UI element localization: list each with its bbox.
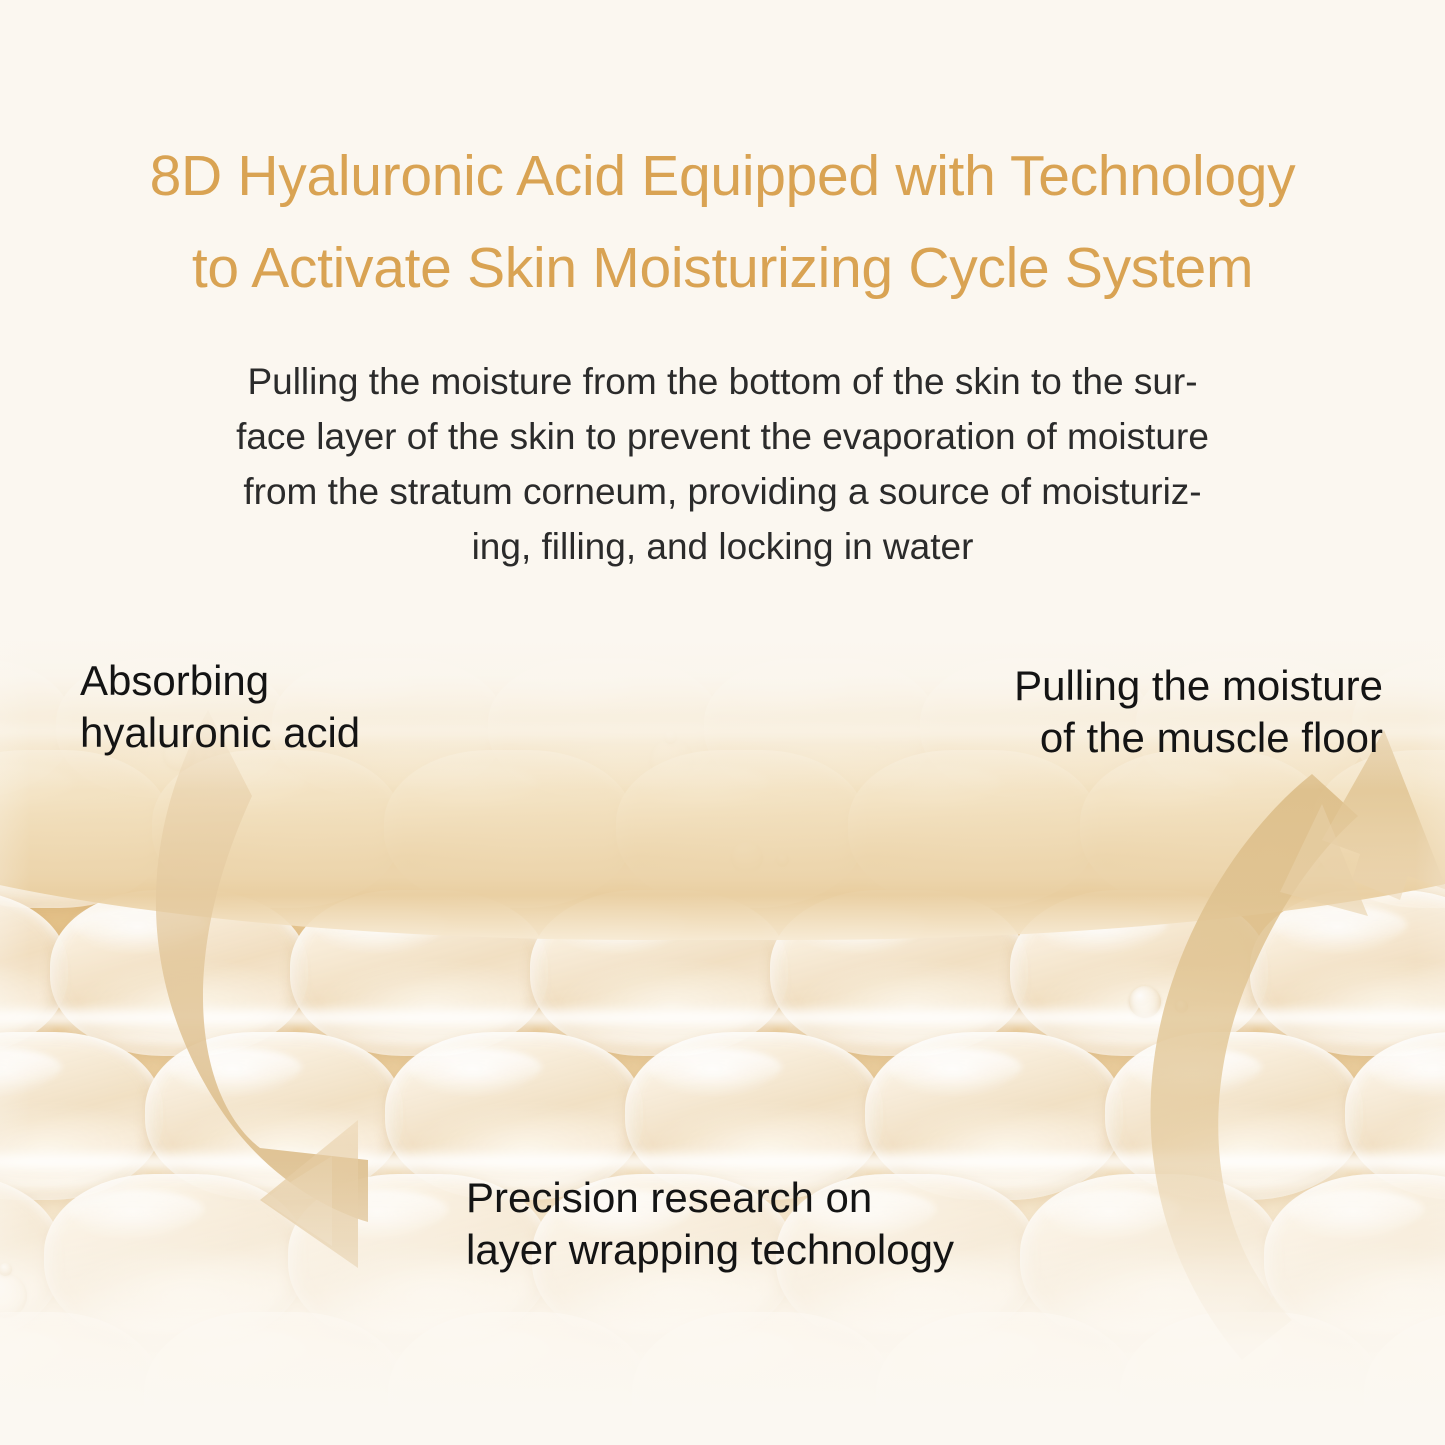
air-bubble xyxy=(571,1414,615,1445)
air-bubble xyxy=(1129,986,1161,1018)
page-title-line-2: to Activate Skin Moisturizing Cycle Syst… xyxy=(0,222,1445,314)
air-bubble xyxy=(587,1404,600,1417)
callout-precision-line-1: Precision research on xyxy=(466,1172,954,1224)
callout-precision-line-2: layer wrapping technology xyxy=(466,1224,954,1276)
page-title: 8D Hyaluronic Acid Equipped with Technol… xyxy=(0,0,1445,314)
gel-capsule xyxy=(632,1312,894,1445)
gel-capsule xyxy=(876,1312,1138,1445)
product-infographic: 8D Hyaluronic Acid Equipped with Technol… xyxy=(0,0,1445,1445)
page-description-line-4: ing, filling, and locking in water xyxy=(0,519,1445,574)
gel-capsule xyxy=(1364,1312,1445,1445)
gel-capsule xyxy=(1120,1312,1382,1445)
page-description-line-3: from the stratum corneum, providing a so… xyxy=(0,464,1445,519)
air-bubble xyxy=(21,1414,53,1445)
capsule-row xyxy=(0,1312,1425,1445)
header-text-block: 8D Hyaluronic Acid Equipped with Technol… xyxy=(0,0,1445,574)
air-bubble xyxy=(1175,1000,1188,1013)
gel-capsule xyxy=(144,1312,406,1445)
callout-absorbing-line-2: hyaluronic acid xyxy=(80,707,360,759)
callout-pulling-the-moisture: Pulling the moisture of the muscle floor xyxy=(1014,660,1383,764)
page-description-line-1: Pulling the moisture from the bottom of … xyxy=(0,354,1445,409)
page-description: Pulling the moisture from the bottom of … xyxy=(0,314,1445,574)
callout-absorbing-line-1: Absorbing xyxy=(80,655,360,707)
callout-pulling-line-2: of the muscle floor xyxy=(1014,712,1383,764)
gel-top-surface xyxy=(0,600,1445,940)
callout-precision-research: Precision research on layer wrapping tec… xyxy=(466,1172,954,1276)
callout-absorbing-hyaluronic-acid: Absorbing hyaluronic acid xyxy=(80,655,360,759)
gel-capsule xyxy=(0,1312,162,1445)
gel-capsule xyxy=(388,1312,650,1445)
page-description-line-2: face layer of the skin to prevent the ev… xyxy=(0,409,1445,464)
callout-pulling-line-1: Pulling the moisture xyxy=(1014,660,1383,712)
page-title-line-1: 8D Hyaluronic Acid Equipped with Technol… xyxy=(0,130,1445,222)
air-bubble xyxy=(68,1428,81,1441)
